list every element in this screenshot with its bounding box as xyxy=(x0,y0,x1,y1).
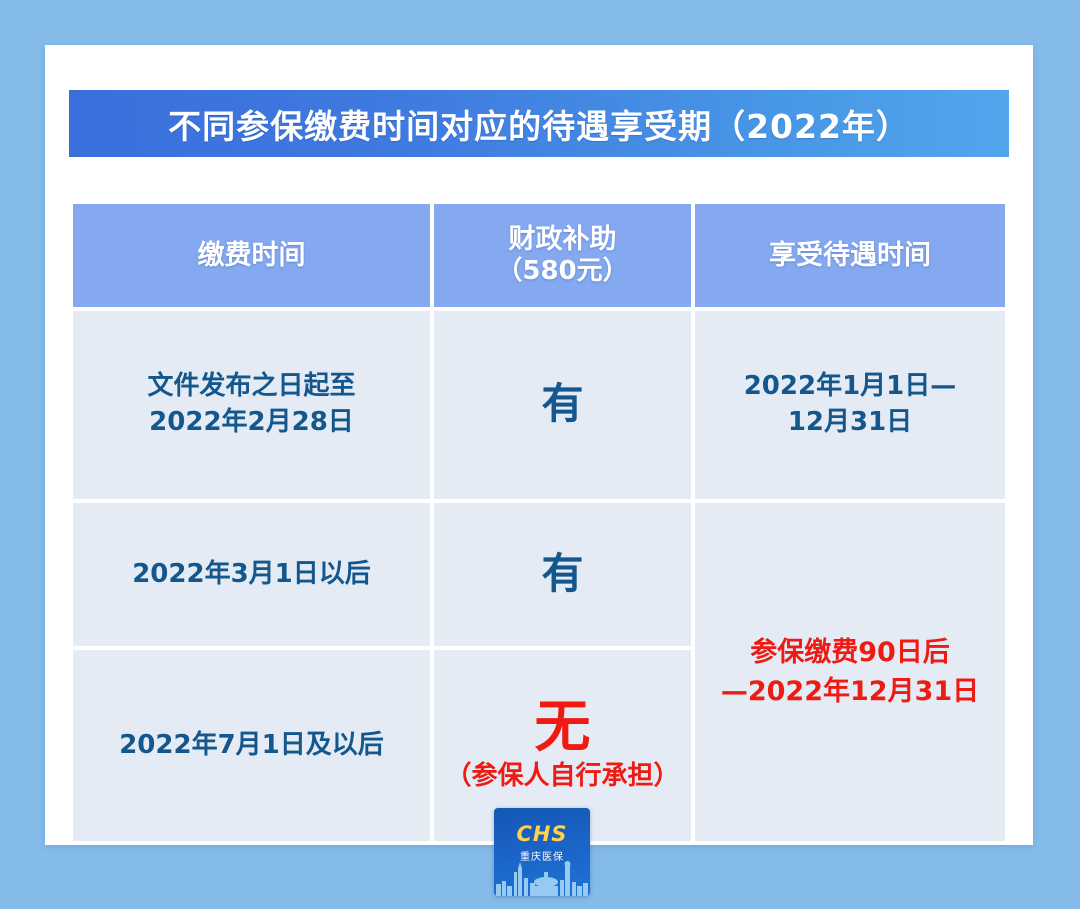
subsidy-value-row2: 有 xyxy=(541,549,583,598)
infographic-root: 不同参保缴费时间对应的待遇享受期（2022年） 缴费时间 财政补助 （580元） xyxy=(0,0,1080,909)
cell-benefit-row2-row3-merged: 参保缴费90日后 —2022年12月31日 xyxy=(695,503,1005,841)
table-head: 缴费时间 财政补助 （580元） 享受待遇时间 xyxy=(73,204,1005,307)
benefit-row1-line1: 2022年1月1日— xyxy=(701,369,999,405)
table-body: 文件发布之日起至 2022年2月28日 有 2022年1月1日— 12月31日 xyxy=(73,311,1005,841)
subsidy-note-row3: （参保人自行承担） xyxy=(440,760,685,793)
payment-time-row2-line1: 2022年3月1日以后 xyxy=(79,557,424,593)
title-banner: 不同参保缴费时间对应的待遇享受期（2022年） xyxy=(69,90,1009,157)
benefit-row1-line2: 12月31日 xyxy=(701,405,999,441)
cell-payment-time-row2: 2022年3月1日以后 xyxy=(73,503,430,646)
table-row: 2022年3月1日以后 有 参保缴费90日后 —2022年12月31日 xyxy=(73,503,1005,646)
cell-payment-time-row1: 文件发布之日起至 2022年2月28日 xyxy=(73,311,430,499)
table-row: 文件发布之日起至 2022年2月28日 有 2022年1月1日— 12月31日 xyxy=(73,311,1005,499)
payment-time-row1-line1: 文件发布之日起至 xyxy=(79,369,424,405)
subsidy-value-row1: 有 xyxy=(541,379,583,428)
cell-subsidy-row2: 有 xyxy=(434,503,691,646)
benefit-merged-line1: 参保缴费90日后 xyxy=(701,633,999,672)
subsidy-value-row3: 无 xyxy=(440,699,685,758)
page-title: 不同参保缴费时间对应的待遇享受期（2022年） xyxy=(168,100,910,148)
white-card: 不同参保缴费时间对应的待遇享受期（2022年） 缴费时间 财政补助 （580元） xyxy=(45,45,1033,845)
column-header-payment-time: 缴费时间 xyxy=(73,204,430,307)
logo-mark-text: CHS xyxy=(494,822,590,846)
payment-time-row1-line2: 2022年2月28日 xyxy=(79,405,424,441)
cell-benefit-row1: 2022年1月1日— 12月31日 xyxy=(695,311,1005,499)
benefit-period-table-wrapper: 缴费时间 财政补助 （580元） 享受待遇时间 文件发布之日起至 2022年2月… xyxy=(69,200,1009,797)
benefit-period-table: 缴费时间 财政补助 （580元） 享受待遇时间 文件发布之日起至 2022年2月… xyxy=(69,200,1009,845)
benefit-merged-line2: —2022年12月31日 xyxy=(701,672,999,711)
column-header-subsidy-amount: （580元） xyxy=(440,256,685,287)
column-header-benefit-period: 享受待遇时间 xyxy=(695,204,1005,307)
column-header-subsidy: 财政补助 （580元） xyxy=(434,204,691,307)
column-header-subsidy-main: 财政补助 xyxy=(440,224,685,256)
city-skyline-icon xyxy=(494,856,590,896)
cell-subsidy-row1: 有 xyxy=(434,311,691,499)
payment-time-row3-line1: 2022年7月1日及以后 xyxy=(79,728,424,764)
chongqing-medical-insurance-logo: CHS 重庆医保 xyxy=(494,808,590,896)
cell-payment-time-row3: 2022年7月1日及以后 xyxy=(73,650,430,841)
table-header-row: 缴费时间 财政补助 （580元） 享受待遇时间 xyxy=(73,204,1005,307)
